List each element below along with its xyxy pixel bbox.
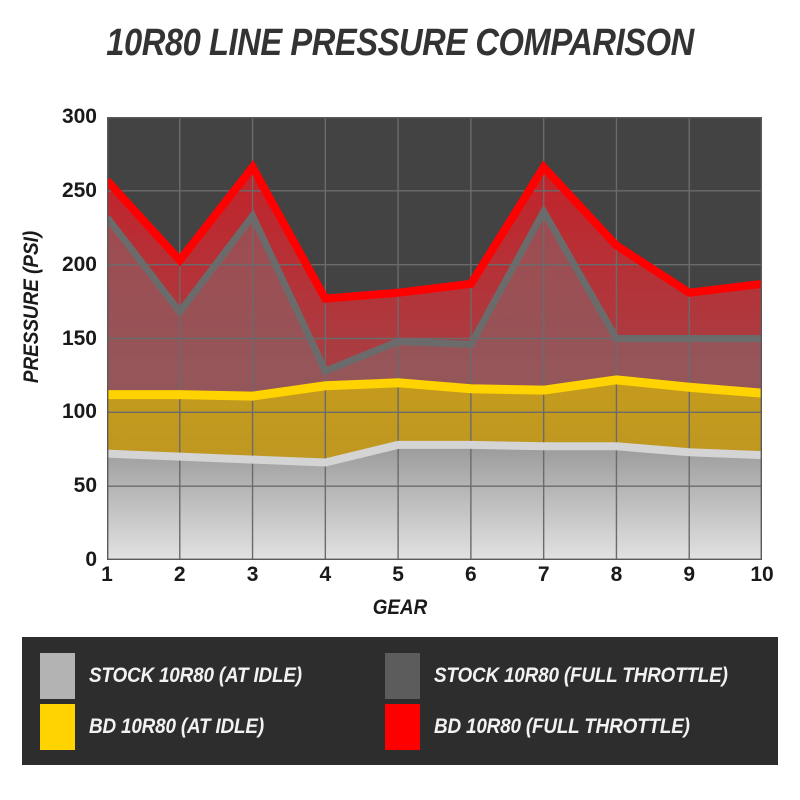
area-stock-idle bbox=[107, 445, 762, 560]
x-axis-tick-label: 10 bbox=[742, 564, 782, 585]
x-axis-tick-label: 4 bbox=[305, 564, 345, 585]
y-axis-label: PRESSURE (PSI) bbox=[20, 190, 44, 424]
legend-swatch-stock-idle bbox=[40, 653, 75, 699]
x-axis-tick-label: 7 bbox=[524, 564, 564, 585]
x-axis-label: GEAR bbox=[40, 596, 760, 620]
legend-grid: STOCK 10R80 (AT IDLE)STOCK 10R80 (FULL T… bbox=[40, 651, 760, 751]
x-axis-tick-label: 8 bbox=[596, 564, 636, 585]
legend-item-bd-full[interactable]: BD 10R80 (FULL THROTTLE) bbox=[385, 702, 760, 751]
x-axis-tick-label: 6 bbox=[451, 564, 491, 585]
legend-swatch-stock-full bbox=[385, 653, 420, 699]
plot-area bbox=[107, 117, 762, 560]
legend-label-stock-full: STOCK 10R80 (FULL THROTTLE) bbox=[434, 664, 728, 688]
y-axis-tick-label: 300 bbox=[37, 106, 97, 127]
legend-item-stock-full[interactable]: STOCK 10R80 (FULL THROTTLE) bbox=[385, 651, 760, 700]
legend-swatch-bd-idle bbox=[40, 704, 75, 750]
x-axis-tick-label: 1 bbox=[87, 564, 127, 585]
legend-item-stock-idle[interactable]: STOCK 10R80 (AT IDLE) bbox=[40, 651, 379, 700]
x-axis-tick-label: 3 bbox=[233, 564, 273, 585]
y-axis-tick-label: 250 bbox=[37, 180, 97, 201]
x-axis-tick-label: 2 bbox=[160, 564, 200, 585]
chart-page: 10R80 LINE PRESSURE COMPARISON PRESSURE … bbox=[0, 0, 800, 800]
x-axis-tick-label: 5 bbox=[378, 564, 418, 585]
y-axis-tick-label: 50 bbox=[37, 475, 97, 496]
x-axis-tick-label: 9 bbox=[669, 564, 709, 585]
legend: STOCK 10R80 (AT IDLE)STOCK 10R80 (FULL T… bbox=[22, 637, 778, 765]
y-axis-tick-label: 200 bbox=[37, 254, 97, 275]
chart-svg bbox=[107, 117, 762, 560]
legend-item-bd-idle[interactable]: BD 10R80 (AT IDLE) bbox=[40, 702, 379, 751]
legend-label-bd-full: BD 10R80 (FULL THROTTLE) bbox=[434, 715, 690, 739]
page-title: 10R80 LINE PRESSURE COMPARISON bbox=[56, 22, 744, 65]
legend-label-bd-idle: BD 10R80 (AT IDLE) bbox=[89, 715, 264, 739]
y-axis-tick-label: 100 bbox=[37, 401, 97, 422]
legend-swatch-bd-full bbox=[385, 704, 420, 750]
legend-label-stock-idle: STOCK 10R80 (AT IDLE) bbox=[89, 664, 302, 688]
y-axis-tick-label: 150 bbox=[37, 328, 97, 349]
